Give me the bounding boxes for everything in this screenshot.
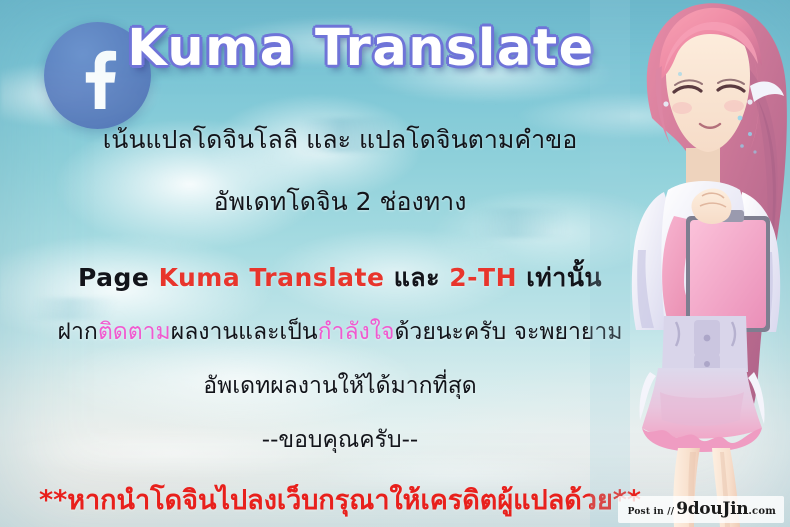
follow-part-3: ด้วยนะครับ จะพยายาม	[395, 319, 623, 345]
site-watermark: Post in // 9douJin .com	[618, 496, 784, 523]
page-channel-line: Page Kuma Translate และ 2-TH เท่านั้น	[0, 258, 680, 298]
watermark-site: 9douJin	[676, 499, 748, 519]
promo-banner: Kuma Translate เน้นแปลโดจินโลลิ และ แปลโ…	[0, 0, 790, 527]
follow-part-2: ผลงานและเป็น	[171, 319, 318, 345]
page-line-highlight-1: Kuma Translate	[159, 263, 385, 292]
follow-highlight-1: ติดตาม	[98, 319, 171, 345]
text-content: Kuma Translate เน้นแปลโดจินโลลิ และ แปลโ…	[0, 0, 680, 527]
watermark-prefix: Post in //	[628, 507, 675, 517]
page-line-prefix: Page	[78, 263, 149, 292]
page-title: Kuma Translate	[0, 22, 680, 76]
thanks-line: --ขอบคุณครับ--	[0, 422, 680, 458]
follow-line: ฝากติดตามผลงานและเป็นกำลังใจด้วยนะครับ จ…	[0, 314, 680, 350]
warning-line-1: **หากนำโดจินไปลงเว็บกรุณาให้เครดิตผู้แปล…	[0, 478, 680, 521]
follow-part-1: ฝาก	[58, 319, 98, 345]
watermark-tld: .com	[748, 506, 776, 517]
lead-line-1: เน้นแปลโดจินโลลิ และ แปลโดจินตามคำขอ	[0, 120, 680, 160]
lead-line-2: อัพเดทโดจิน 2 ช่องทาง	[0, 182, 680, 222]
page-line-suffix: เท่านั้น	[526, 263, 602, 292]
page-line-highlight-2: 2-TH	[449, 263, 517, 292]
follow-highlight-2: กำลังใจ	[318, 319, 395, 345]
update-line: อัพเดทผลงานให้ได้มากที่สุด	[0, 368, 680, 404]
page-line-middle: และ	[394, 263, 440, 292]
